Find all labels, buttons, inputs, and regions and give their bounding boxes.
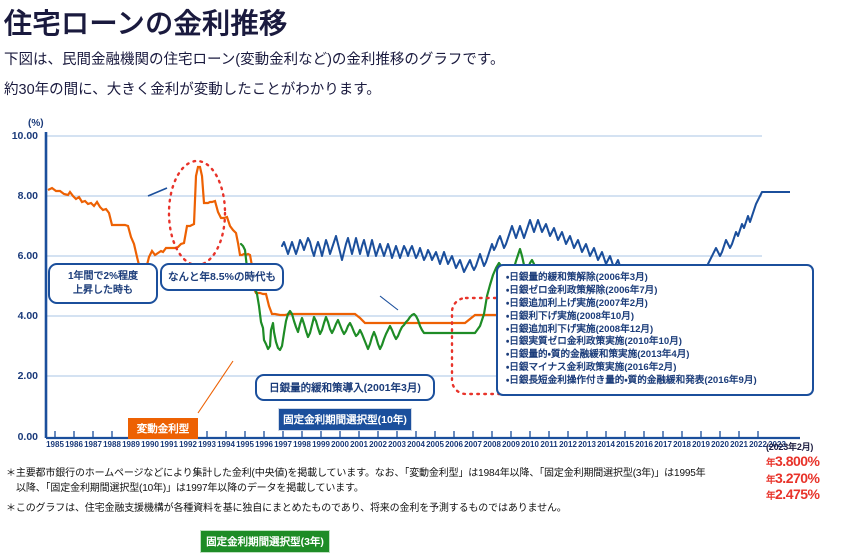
subtitle-line-1: 下図は、民間金融機関の住宅ローン(変動金利など)の金利推移のグラフです。 — [4, 48, 504, 69]
callout-leader-lines — [148, 188, 167, 196]
boj-event-4: ・日銀利下げ実施(2008年10月) — [506, 311, 804, 324]
boj-event-1: ・日銀量的緩和策解除(2006年3月) — [506, 272, 804, 285]
footnote-1-part2: 以降、「固定金利期間選択型(10年)」は1997年以降のデータを掲載しています。 — [6, 481, 846, 496]
series-label-variable-rate: 変動金利型 — [128, 418, 198, 439]
y-tick-6: 6.00 — [4, 250, 38, 262]
callout-boj-events: ・日銀量的緩和策解除(2006年3月)・日銀ゼロ金利政策解除(2006年7月)・… — [496, 264, 814, 396]
y-tick-0: 0.00 — [4, 431, 38, 443]
series-label-fixed-10y: 固定金利期間選択型(10年) — [278, 408, 412, 431]
boj-event-6: ・日銀実質ゼロ金利政策実施(2010年10月) — [506, 336, 804, 349]
page-root: 住宅ローンの金利推移 下図は、民間金融機関の住宅ローン(変動金利など)の金利推移… — [0, 0, 850, 515]
leader-blue-chip — [380, 296, 398, 310]
y-tick-10: 10.00 — [4, 130, 38, 142]
boj-event-7: ・日銀量的・質的金融緩和策実施(2013年4月) — [506, 349, 804, 362]
boj-event-2: ・日銀ゼロ金利政策解除(2006年7月) — [506, 285, 804, 298]
end-value-date: (2023年2月) — [766, 440, 850, 453]
y-tick-2: 2.00 — [4, 370, 38, 382]
footnotes: ＊主要都市銀行のホームページなどにより集計した金利(中央値)を掲載しています。な… — [6, 466, 846, 516]
page-title: 住宅ローンの金利推移 — [4, 2, 288, 42]
callout-1-year-rise-line2: 上昇した時も — [54, 284, 152, 298]
callout-boj-qe-2001: 日銀量的緩和策導入(2001年3月) — [255, 374, 435, 401]
callout-1-year-rise-line1: 1年間で2%程度 — [54, 270, 152, 284]
y-tick-4: 4.00 — [4, 310, 38, 322]
callout-85-percent: なんと年8.5%の時代も — [160, 263, 284, 291]
footnote-1-part1: ＊主要都市銀行のホームページなどにより集計した金利(中央値)を掲載しています。な… — [6, 468, 706, 479]
subtitle-line-2: 約30年の間に、大きく金利が変動したことがわかります。 — [4, 78, 381, 99]
footnote-2: ＊このグラフは、住宅金融支援機構が各種資料を基に独自にまとめたものであり、将来の… — [6, 501, 846, 516]
footnote-1: ＊主要都市銀行のホームページなどにより集計した金利(中央値)を掲載しています。な… — [6, 466, 846, 496]
y-tick-8: 8.00 — [4, 190, 38, 202]
boj-event-8: ・日銀マイナス金利政策実施(2016年2月) — [506, 362, 804, 375]
callout-1-year-rise: 1年間で2%程度 上昇した時も — [48, 263, 158, 304]
boj-event-3: ・日銀追加利上げ実施(2007年2月) — [506, 298, 804, 311]
boj-event-5: ・日銀追加利下げ実施(2008年12月) — [506, 324, 804, 337]
series-label-fixed-3y: 固定金利期間選択型(3年) — [200, 530, 330, 553]
leader-orange-chip — [198, 361, 233, 413]
interest-rate-chart: (%) — [0, 118, 850, 458]
boj-event-9: ・日銀長短金利操作付き量的・質的金融緩和発表(2016年9月) — [506, 375, 804, 388]
